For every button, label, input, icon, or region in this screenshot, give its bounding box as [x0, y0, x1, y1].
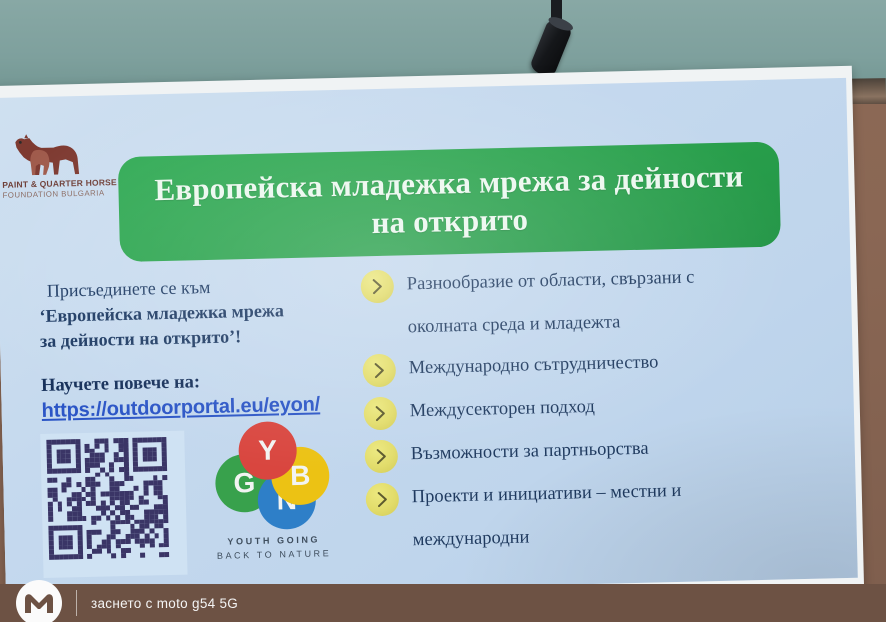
bullet-label: Междусекторен подход [409, 391, 595, 427]
projection-screen: PAINT & QUARTER HORSE FOUNDATION BULGARI… [0, 66, 864, 614]
chevron-right-icon [362, 354, 396, 388]
join-invitation: Присъединете се към ‘Европейска младежка… [39, 272, 359, 354]
motorola-batwing-glyph [22, 586, 56, 620]
slide-title-banner: Европейска младежка мрежа за дейности на… [118, 142, 781, 263]
ygn-tagline-2: BACK TO NATURE [210, 546, 338, 563]
bullet-label-continued: околната среда и младежта [407, 301, 832, 343]
watermark-divider [76, 590, 77, 616]
ygn-logo: G N B Y YOUTH GOING BACK TO NATURE [207, 420, 338, 563]
slide-surface: PAINT & QUARTER HORSE FOUNDATION BULGARI… [0, 78, 858, 598]
bullet-item: Разнообразие от области, свързани с [360, 258, 831, 303]
ygn-circles-icon: G N B Y [212, 420, 333, 531]
chevron-right-icon [363, 397, 397, 431]
paint-quarter-horse-logo: PAINT & QUARTER HORSE FOUNDATION BULGARI… [1, 132, 99, 201]
bullet-label: Възможности за партньорства [410, 433, 649, 471]
logo-line-2: FOUNDATION BULGARIA [2, 189, 98, 201]
chevron-right-icon [365, 483, 399, 517]
horse-icon [7, 132, 92, 180]
qr-code[interactable] [40, 431, 187, 578]
qr-code-matrix [46, 437, 169, 560]
bullet-label-continued: международни [412, 514, 837, 556]
bullet-list: Разнообразие от области, свързани соколн… [360, 258, 837, 566]
bullet-label: Проекти и инициативи – местни и [411, 475, 681, 513]
page-title: Европейска младежка мрежа за дейности на… [118, 156, 781, 248]
bullet-label: Международно сътрудничество [408, 346, 658, 384]
watermark-text: заснето с moto g54 5G [91, 596, 238, 611]
bullet-label: Разнообразие от области, свързани с [406, 262, 694, 301]
bullet-item: Проекти и инициативи – местни и [365, 471, 836, 516]
bullet-item: Възможности за партньорства [364, 428, 835, 473]
eyon-portal-link[interactable]: https://outdoorportal.eu/eyon/ [41, 392, 320, 423]
photo-canvas: PAINT & QUARTER HORSE FOUNDATION BULGARI… [0, 0, 886, 622]
motorola-m-icon [16, 580, 62, 622]
camera-watermark-bar: заснето с moto g54 5G [0, 584, 886, 622]
chevron-right-icon [364, 440, 398, 474]
bullet-item: Международно сътрудничество [362, 342, 833, 387]
bullet-item: Междусекторен подход [363, 385, 834, 430]
chevron-right-icon [360, 270, 394, 304]
left-text-column: Присъединете се към ‘Европейска младежка… [39, 272, 360, 423]
